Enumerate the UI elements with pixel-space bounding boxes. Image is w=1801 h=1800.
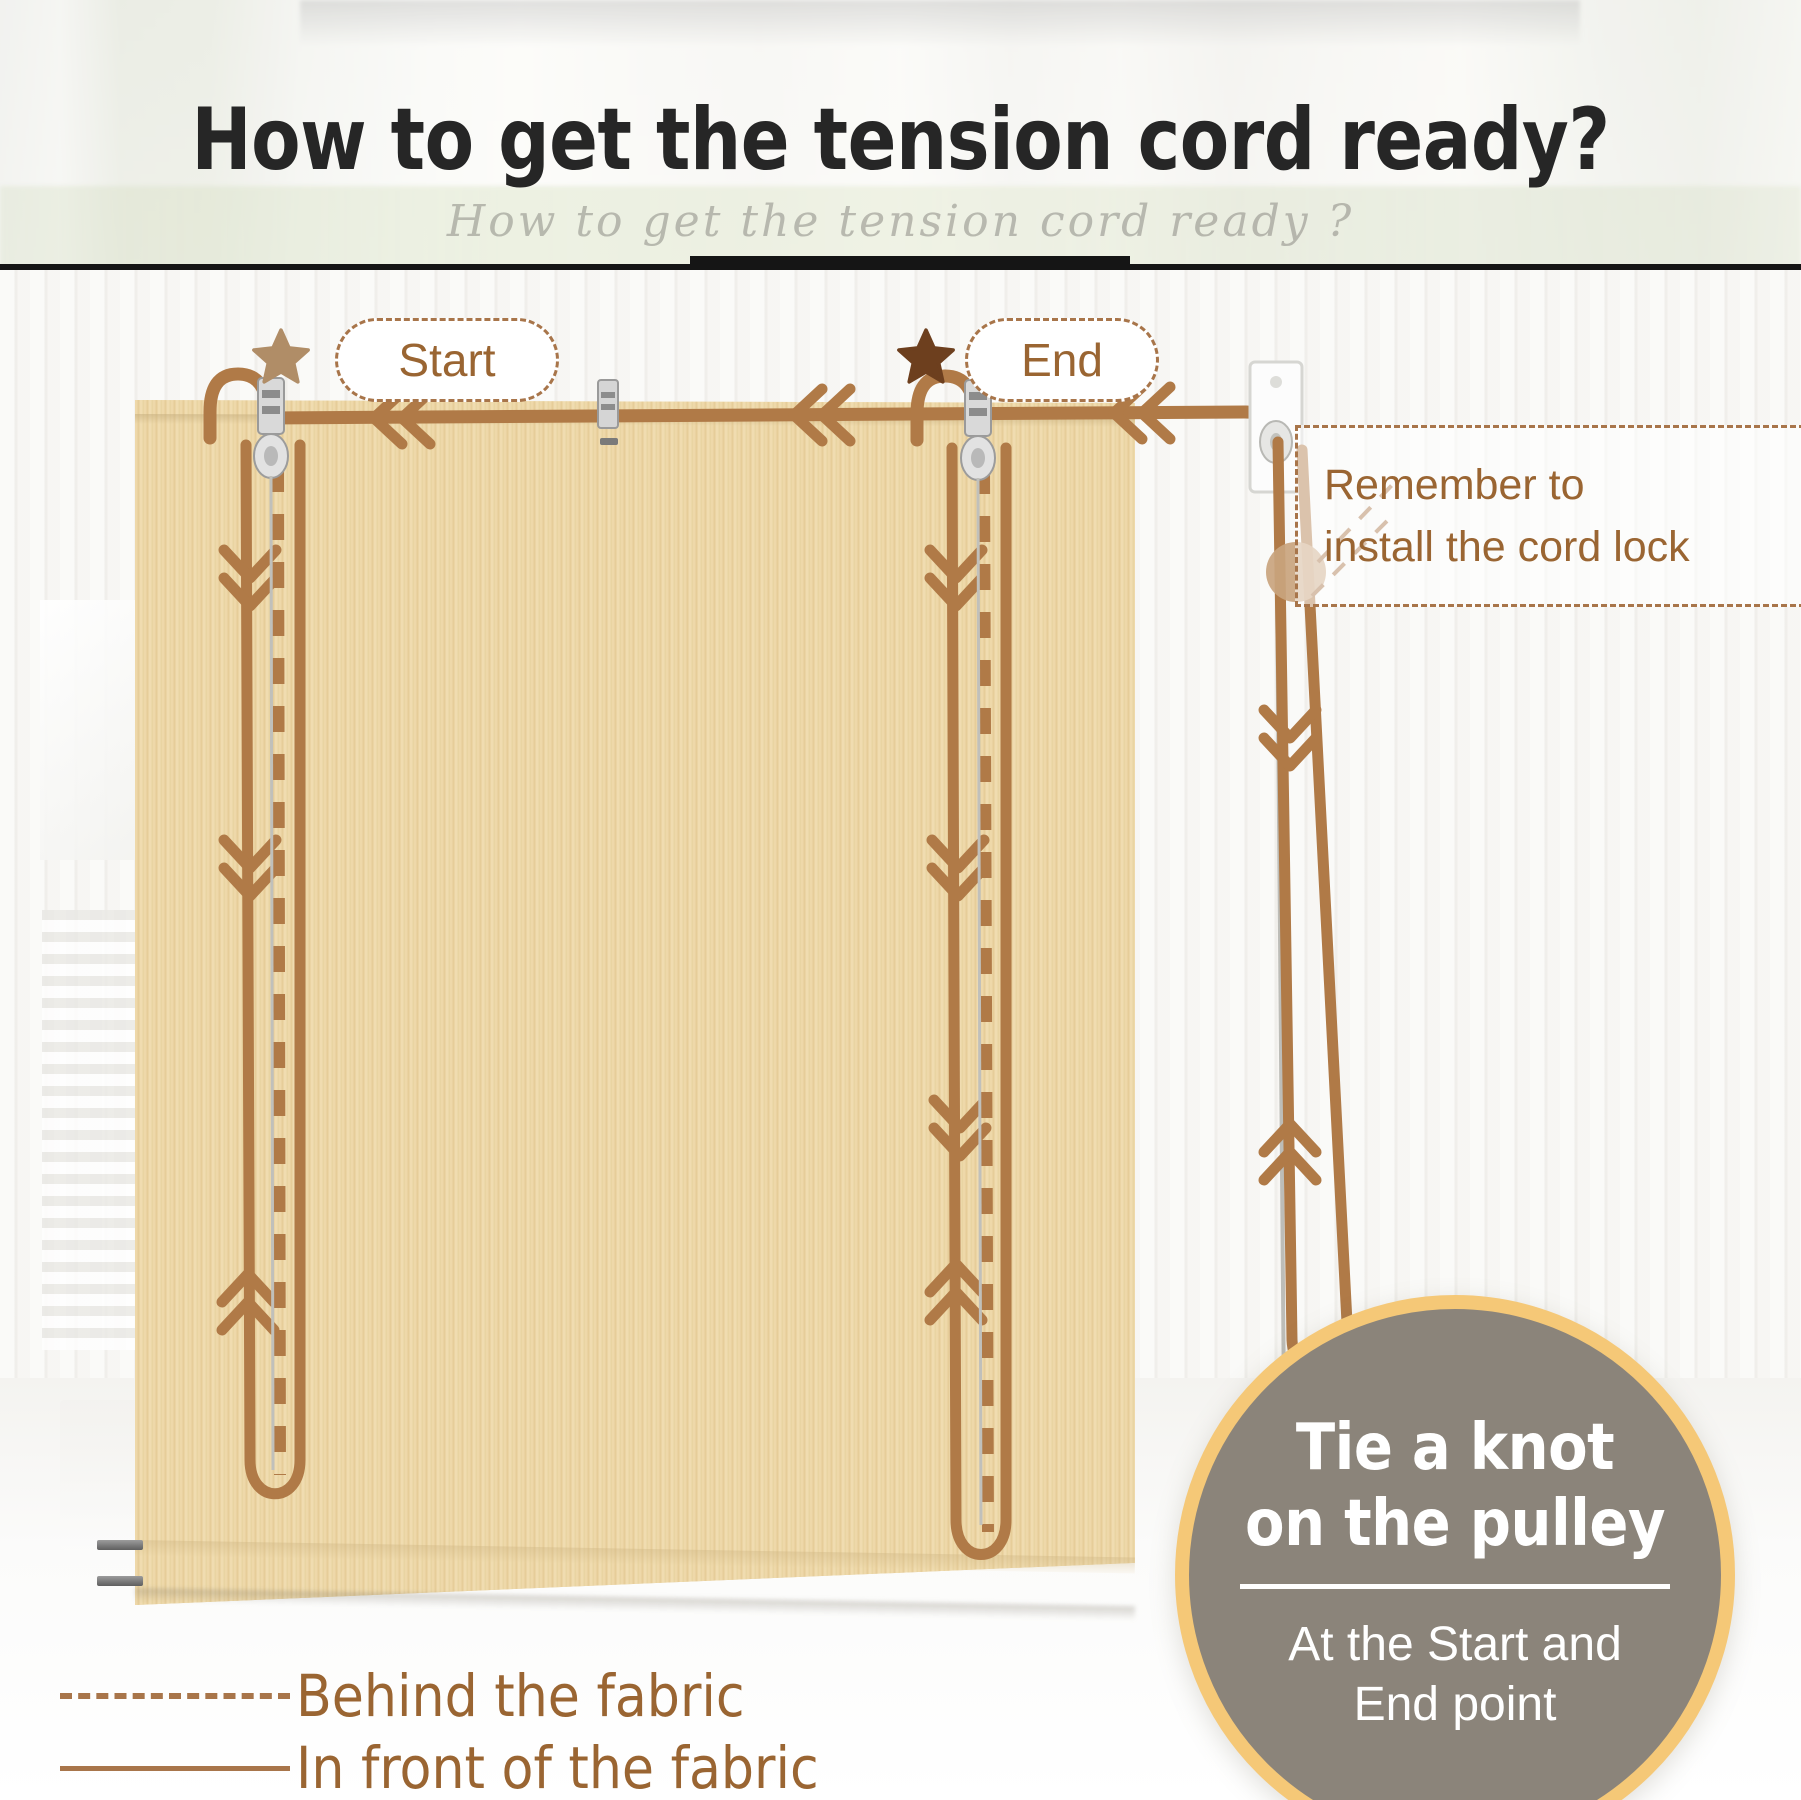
badge-headline: Tie a knot on the pulley <box>1245 1410 1665 1562</box>
legend-row-behind: Behind the fabric <box>60 1660 960 1732</box>
legend-row-front: In front of the fabric <box>60 1732 960 1800</box>
legend-label-behind: Behind the fabric <box>296 1664 745 1728</box>
header-script-subtitle: How to get the tension cord ready ? <box>0 196 1801 247</box>
start-label: Start <box>335 318 559 402</box>
legend-solid-line-icon <box>60 1766 290 1771</box>
roller-shade <box>135 400 1135 1620</box>
shade-bottom-rail-clip-lower <box>97 1576 143 1586</box>
badge-subtitle: At the Start and End point <box>1288 1615 1622 1735</box>
end-label: End <box>965 318 1159 402</box>
diagram-scene: Start End Remember to install the cord l… <box>0 270 1801 1800</box>
badge-divider <box>1240 1584 1670 1589</box>
instructional-diagram-page: How to get the tension cord ready ? How … <box>0 0 1801 1800</box>
legend-dashed-line-icon <box>60 1693 290 1699</box>
callout-line-1: Remember to <box>1324 454 1794 516</box>
legend: Behind the fabric In front of the fabric <box>60 1660 960 1800</box>
callout-line-2: install the cord lock <box>1324 516 1794 578</box>
legend-label-front: In front of the fabric <box>296 1736 819 1800</box>
cord-lock-callout: Remember to install the cord lock <box>1295 425 1801 607</box>
shade-fabric <box>135 400 1135 1605</box>
header-divider-accent <box>690 256 1130 270</box>
header-banner: How to get the tension cord ready ? How … <box>0 0 1801 272</box>
shade-bottom-shadow <box>135 1588 1135 1620</box>
page-title: How to get the tension cord ready? <box>63 94 1738 186</box>
shade-bottom-rail-clip-upper <box>97 1540 143 1550</box>
